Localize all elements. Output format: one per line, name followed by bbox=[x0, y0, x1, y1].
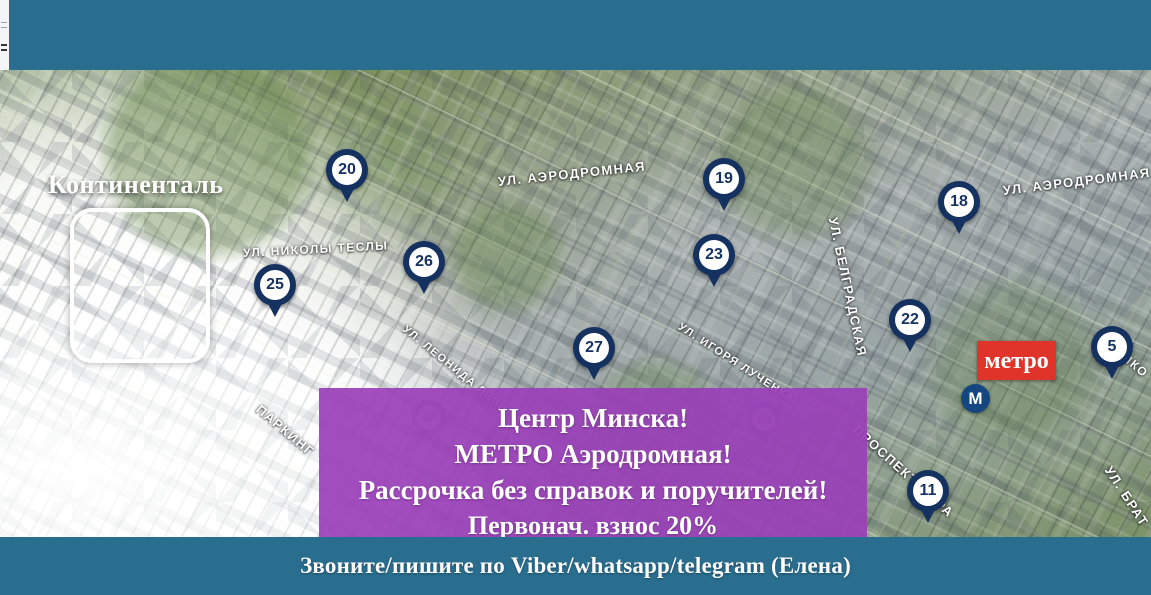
map-pin-icon: 26 bbox=[403, 241, 445, 283]
sliver-mark-3 bbox=[1, 44, 7, 46]
map-pin-19[interactable]: 19 bbox=[703, 158, 745, 212]
map-pin-number: 27 bbox=[585, 340, 603, 356]
map-pin-number: 18 bbox=[950, 194, 968, 210]
metro-station-letter: М bbox=[968, 390, 982, 407]
map-pin-20[interactable]: 20 bbox=[326, 149, 368, 203]
map-pin-icon: 19 bbox=[703, 158, 745, 200]
left-edge-panel-sliver bbox=[0, 0, 9, 70]
sliver-mark-2 bbox=[1, 27, 7, 28]
sliver-mark-1 bbox=[1, 22, 7, 23]
map-pin-27[interactable]: 27 bbox=[573, 327, 615, 381]
map-pin-22[interactable]: 22 bbox=[889, 299, 931, 353]
map-pin-number: 19 bbox=[715, 171, 733, 187]
map-pin-icon: 11 bbox=[907, 470, 949, 512]
map-pin-disc: 22 bbox=[895, 305, 925, 335]
map-pin-disc: 18 bbox=[944, 187, 974, 217]
map-pin-icon: 27 bbox=[573, 327, 615, 369]
map-pin-number: 11 bbox=[920, 483, 937, 499]
map-pin-disc: 25 bbox=[260, 270, 290, 300]
map-pin-icon: 20 bbox=[326, 149, 368, 191]
map-pin-icon: 25 bbox=[254, 264, 296, 306]
map-pin-icon: 22 bbox=[889, 299, 931, 341]
map-pin-25[interactable]: 25 bbox=[254, 264, 296, 318]
map-pin-icon: 23 bbox=[693, 234, 735, 276]
promo-line-4: Первонач. взнос 20% bbox=[468, 509, 718, 537]
promo-line-1: Центр Минска! bbox=[498, 400, 688, 436]
map-pin-18[interactable]: 18 bbox=[938, 181, 980, 235]
promo-line-2: МЕТРО Аэродромная! bbox=[454, 436, 731, 472]
aerial-map-image[interactable]: Континенталь УЛ. АЭРОДРОМНАЯУЛ. АЭРОДРОМ… bbox=[0, 70, 1151, 537]
map-pin-number: 5 bbox=[1108, 339, 1117, 355]
map-pin-disc: 20 bbox=[332, 155, 362, 185]
map-pin-number: 22 bbox=[901, 312, 919, 328]
map-pin-26[interactable]: 26 bbox=[403, 241, 445, 295]
map-pin-number: 20 bbox=[338, 162, 356, 178]
metro-station-icon: М bbox=[961, 384, 990, 413]
map-pin-5[interactable]: 5 bbox=[1091, 326, 1133, 380]
sliver-mark-4 bbox=[1, 49, 7, 51]
screenshot-root: Континенталь УЛ. АЭРОДРОМНАЯУЛ. АЭРОДРОМ… bbox=[0, 0, 1151, 595]
map-pin-23[interactable]: 23 bbox=[693, 234, 735, 288]
map-pin-disc: 27 bbox=[579, 333, 609, 363]
promo-line-3: Рассрочка без справок и поручителей! bbox=[359, 472, 828, 508]
map-pin-disc: 5 bbox=[1097, 332, 1127, 362]
map-pin-number: 25 bbox=[266, 277, 284, 293]
metro-store-sign: метро bbox=[977, 341, 1056, 380]
site-highlight-frame bbox=[70, 208, 210, 363]
site-label-continental: Континенталь bbox=[48, 170, 223, 200]
map-pin-disc: 19 bbox=[709, 164, 739, 194]
bottom-contact-bar: Звоните/пишите по Viber/whatsapp/telegra… bbox=[0, 537, 1151, 595]
map-pin-icon: 5 bbox=[1091, 326, 1133, 368]
top-toolbar bbox=[0, 0, 1151, 70]
contact-text: Звоните/пишите по Viber/whatsapp/telegra… bbox=[300, 553, 851, 579]
map-pin-disc: 26 bbox=[409, 247, 439, 277]
map-pin-11[interactable]: 11 bbox=[907, 470, 949, 524]
map-pin-disc: 23 bbox=[699, 240, 729, 270]
map-pin-disc: 11 bbox=[913, 476, 943, 506]
metro-store-sign-label: метро bbox=[984, 349, 1048, 373]
map-pin-number: 26 bbox=[415, 254, 433, 270]
map-pin-icon: 18 bbox=[938, 181, 980, 223]
map-pin-number: 23 bbox=[705, 247, 723, 263]
promo-panel: Центр Минска! МЕТРО Аэродромная! Рассроч… bbox=[319, 388, 867, 537]
